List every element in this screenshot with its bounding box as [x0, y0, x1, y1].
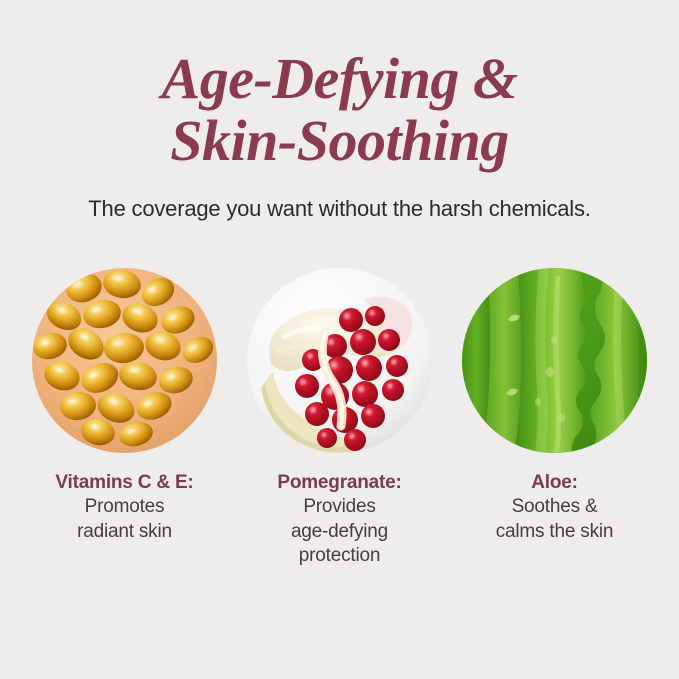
- ingredient-caption-vitamins: Vitamins C & E: Promotes radiant skin: [22, 471, 227, 544]
- ingredient-desc-line: Provides: [237, 495, 442, 519]
- ingredient-column-pomegranate: Pomegranate: Provides age-defying protec…: [247, 268, 432, 568]
- subtitle: The coverage you want without the harsh …: [88, 196, 590, 222]
- headline-line-1: Age-Defying &: [162, 48, 518, 110]
- ingredient-caption-aloe: Aloe: Soothes & calms the skin: [452, 471, 657, 544]
- headline-line-2: Skin-Soothing: [162, 110, 518, 172]
- ingredient-desc-line: calms the skin: [452, 520, 657, 544]
- aloe-leaves-photo: [462, 268, 647, 453]
- ingredient-columns: Vitamins C & E: Promotes radiant skin: [0, 268, 679, 568]
- ingredient-title: Vitamins C & E:: [22, 471, 227, 495]
- page-title: Age-Defying & Skin-Soothing: [162, 48, 518, 172]
- ingredient-desc-line: Soothes &: [452, 495, 657, 519]
- ingredient-title: Aloe:: [452, 471, 657, 495]
- ingredient-column-aloe: Aloe: Soothes & calms the skin: [462, 268, 647, 544]
- ingredient-title: Pomegranate:: [237, 471, 442, 495]
- ingredient-caption-pomegranate: Pomegranate: Provides age-defying protec…: [237, 471, 442, 568]
- vitamin-capsules-photo: [32, 268, 217, 453]
- ingredient-column-vitamins: Vitamins C & E: Promotes radiant skin: [32, 268, 217, 544]
- pomegranate-photo: [247, 268, 432, 453]
- ingredient-benefits-infographic: Age-Defying & Skin-Soothing The coverage…: [0, 0, 679, 679]
- ingredient-desc-line: Promotes: [22, 495, 227, 519]
- ingredient-desc-line: age-defying: [237, 520, 442, 544]
- ingredient-desc-line: protection: [237, 544, 442, 568]
- ingredient-desc-line: radiant skin: [22, 520, 227, 544]
